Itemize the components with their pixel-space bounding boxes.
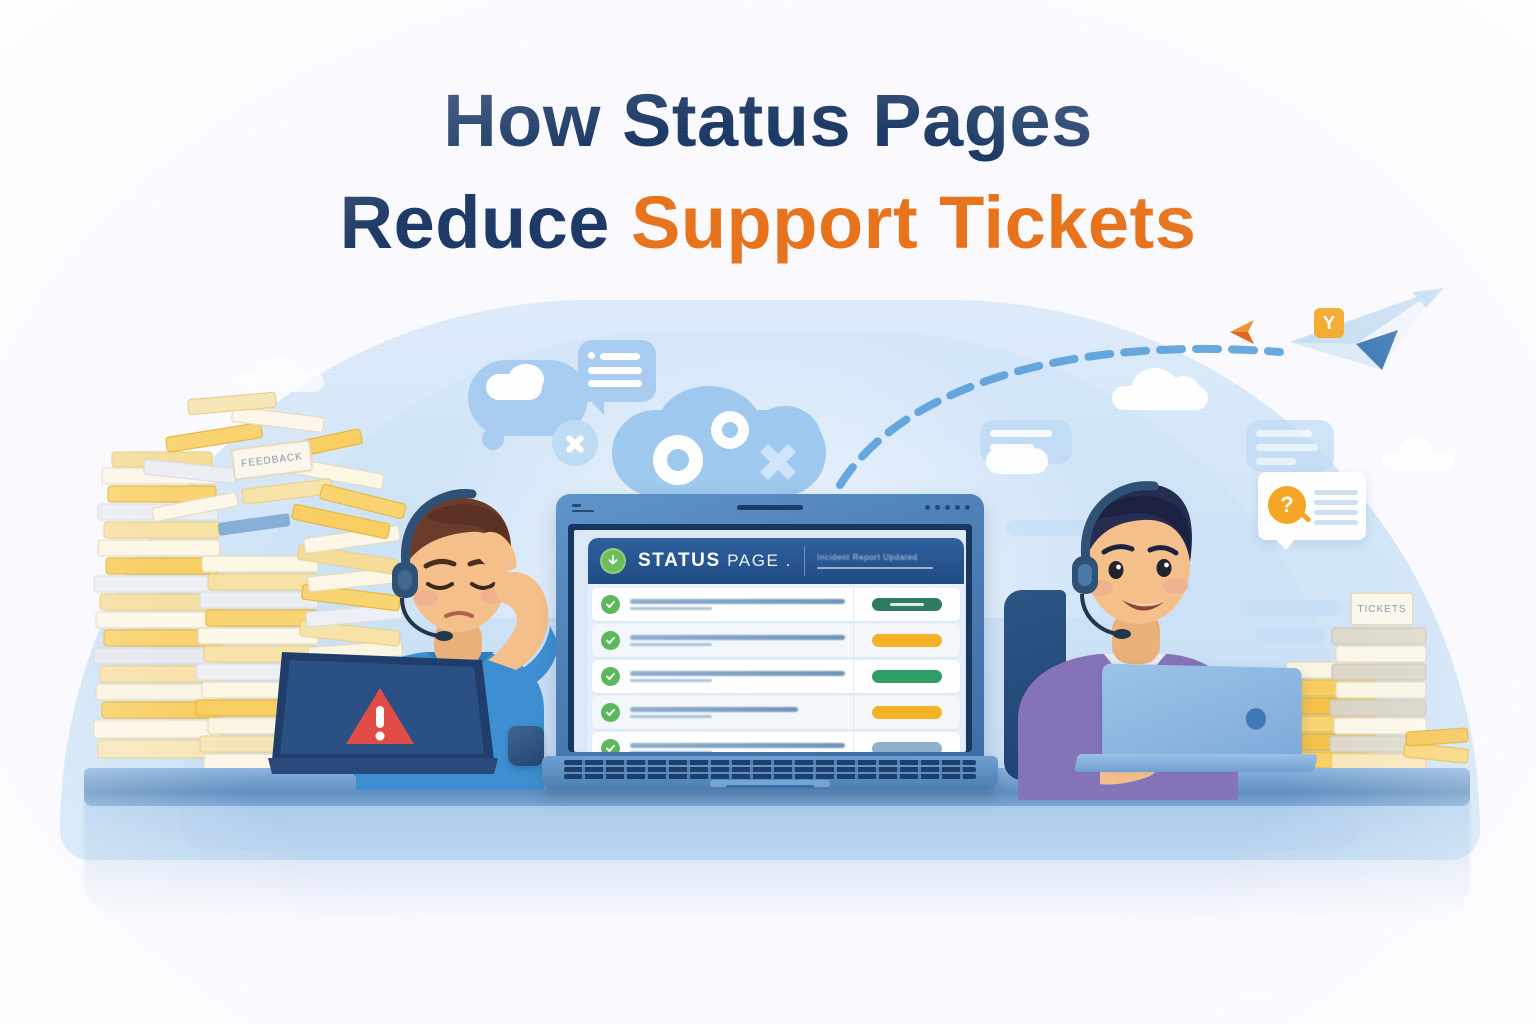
table-row[interactable] bbox=[592, 624, 960, 657]
status-page-laptop: STATUS PAGE . Incident Report Updated bbox=[556, 494, 984, 794]
page-title-line-1: How Status Pages bbox=[0, 84, 1536, 158]
download-arrow-icon bbox=[600, 548, 626, 574]
blue-laptop-base[interactable] bbox=[1074, 754, 1318, 772]
x-mark-icon bbox=[552, 420, 598, 466]
status-badge bbox=[872, 742, 942, 752]
blue-laptop-lid bbox=[1102, 663, 1302, 762]
check-circle-icon bbox=[601, 703, 620, 722]
laptop-logo-icon bbox=[1246, 708, 1266, 730]
check-circle-icon bbox=[601, 739, 620, 752]
table-row[interactable] bbox=[592, 696, 960, 729]
plane-badge: Y bbox=[1314, 308, 1344, 338]
row-status-cell bbox=[853, 624, 960, 657]
row-text-placeholder bbox=[630, 743, 845, 752]
header-divider bbox=[804, 546, 805, 576]
check-circle-icon bbox=[601, 631, 620, 650]
dark-laptop bbox=[268, 648, 480, 774]
title-navy-text: Reduce bbox=[340, 181, 631, 264]
brand-strong: STATUS bbox=[638, 550, 721, 571]
row-status-cell bbox=[853, 660, 960, 693]
row-text-placeholder bbox=[630, 707, 845, 718]
camera-strip-icon bbox=[737, 505, 803, 510]
tickets-label-card: TICKETS bbox=[1350, 592, 1414, 626]
illustration-canvas: How Status Pages Reduce Support Tickets bbox=[0, 0, 1536, 1024]
row-text-placeholder bbox=[630, 599, 845, 610]
orange-arrow-icon bbox=[1228, 318, 1270, 346]
laptop-notch bbox=[726, 785, 814, 788]
bezel-dots bbox=[925, 505, 970, 510]
header-meta-text: Incident Report Updated bbox=[817, 553, 952, 562]
laptop-base bbox=[542, 756, 998, 790]
row-status-cell bbox=[853, 732, 960, 752]
status-page-title: STATUS PAGE . bbox=[638, 550, 792, 572]
status-page-rows bbox=[588, 584, 964, 752]
desk-reflection bbox=[84, 800, 1470, 920]
paper-plane-icon: Y bbox=[1286, 286, 1446, 382]
header-meta-underline bbox=[817, 567, 933, 569]
title-orange-text: Support Tickets bbox=[631, 181, 1196, 264]
blue-laptop bbox=[1076, 666, 1312, 778]
table-row[interactable] bbox=[592, 732, 960, 752]
header-meta: Incident Report Updated bbox=[817, 553, 952, 569]
status-page-header: STATUS PAGE . Incident Report Updated bbox=[588, 538, 964, 584]
mouse-icon bbox=[508, 726, 544, 766]
row-text-placeholder bbox=[630, 671, 845, 682]
status-badge bbox=[872, 598, 942, 611]
row-status-cell bbox=[853, 696, 960, 729]
faq-text-lines bbox=[1314, 490, 1358, 530]
status-badge bbox=[872, 670, 942, 683]
check-circle-icon bbox=[601, 595, 620, 614]
laptop-bezel: STATUS PAGE . Incident Report Updated bbox=[568, 524, 972, 752]
status-badge bbox=[872, 706, 942, 719]
laptop-lid: STATUS PAGE . Incident Report Updated bbox=[556, 494, 984, 762]
laptop-screen: STATUS PAGE . Incident Report Updated bbox=[574, 530, 966, 752]
laptop-keyboard[interactable] bbox=[564, 760, 976, 780]
bezel-marks bbox=[572, 504, 594, 512]
check-circle-icon bbox=[601, 667, 620, 686]
table-row[interactable] bbox=[592, 588, 960, 621]
brand-light: PAGE . bbox=[721, 551, 792, 570]
cloud-icon bbox=[1382, 438, 1454, 470]
table-row[interactable] bbox=[592, 660, 960, 693]
page-title-line-2: Reduce Support Tickets bbox=[0, 186, 1536, 260]
row-status-cell bbox=[853, 588, 960, 621]
status-badge bbox=[872, 634, 942, 647]
row-text-placeholder bbox=[630, 635, 845, 646]
